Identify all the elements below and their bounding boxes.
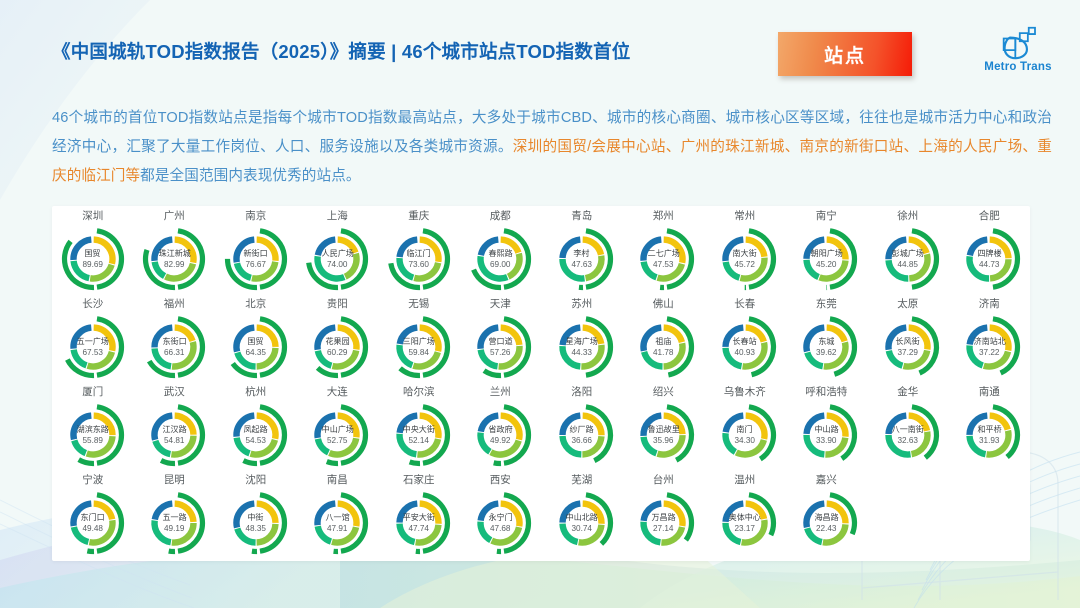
donut-segment xyxy=(501,416,520,440)
donut-segment xyxy=(807,504,825,528)
donut-rings xyxy=(793,402,859,468)
page-title: 《中国城轨TOD指数报告（2025）》摘要 | 46个城市站点TOD指数首位 xyxy=(52,38,630,64)
donut-segment xyxy=(582,436,601,454)
donut-segment xyxy=(318,328,336,350)
city-label: 昆明 xyxy=(164,474,185,488)
donut-chart: 纱厂路36.66 xyxy=(549,402,615,468)
intro-text-part3: 都是全国范围内表现优秀的站点。 xyxy=(140,168,360,184)
donut-segment xyxy=(491,441,519,455)
city-label: 呼和浩特 xyxy=(805,386,847,400)
inner-segment-ring xyxy=(155,416,194,455)
donut-segment xyxy=(582,328,601,344)
donut-segment xyxy=(581,345,601,367)
inner-segment-ring xyxy=(155,504,194,543)
donut-segment xyxy=(156,441,171,454)
donut-segment xyxy=(419,240,438,262)
station-donut-cell[interactable]: 佛山祖庙41.78 xyxy=(623,294,705,382)
donut-segment xyxy=(888,435,910,454)
tod-index-chart-panel: 深圳国贸89.69广州珠江新城82.99南京新街口76.67上海人民广场74.0… xyxy=(52,206,1030,561)
donut-segment xyxy=(888,328,906,350)
donut-segment xyxy=(338,328,357,350)
station-donut-cell[interactable]: 南通和平桥31.93 xyxy=(949,382,1031,470)
donut-chart: 祖庙41.78 xyxy=(630,314,696,380)
city-label: 温州 xyxy=(734,474,755,488)
donut-rings xyxy=(467,490,533,556)
donut-segment xyxy=(333,350,357,366)
donut-segment xyxy=(399,345,412,365)
station-donut-cell[interactable]: 嘉兴海昌路22.43 xyxy=(786,470,868,558)
donut-segment xyxy=(889,351,903,366)
donut-chart: 凤起路54.53 xyxy=(223,402,289,468)
page-header: 《中国城轨TOD指数报告（2025）》摘要 | 46个城市站点TOD指数首位 站… xyxy=(0,0,1080,92)
donut-rings xyxy=(793,226,859,292)
inner-segment-ring xyxy=(562,416,601,455)
inner-segment-ring xyxy=(399,504,438,543)
city-label: 嘉兴 xyxy=(816,474,837,488)
city-label: 佛山 xyxy=(653,298,674,312)
station-donut-cell[interactable]: 东莞东城39.62 xyxy=(786,294,868,382)
donut-rings xyxy=(223,402,289,468)
donut-chart: 春熙路69.00 xyxy=(467,226,533,292)
donut-segment xyxy=(175,328,193,341)
donut-segment xyxy=(501,240,519,253)
station-donut-cell[interactable]: 长春长春站40.93 xyxy=(704,294,786,382)
inner-segment-ring xyxy=(725,240,764,279)
city-label: 郑州 xyxy=(653,210,674,224)
donut-rings xyxy=(467,226,533,292)
donut-rings xyxy=(223,314,289,380)
donut-segment xyxy=(808,353,824,367)
donut-segment xyxy=(807,416,825,434)
donut-segment xyxy=(87,436,113,454)
donut-segment xyxy=(419,416,438,438)
donut-segment xyxy=(888,260,908,278)
donut-segment xyxy=(338,240,356,253)
inner-segment-ring xyxy=(318,328,357,367)
donut-rings xyxy=(549,226,615,292)
donut-segment xyxy=(664,343,683,366)
donut-segment xyxy=(903,350,927,366)
station-donut-cell[interactable]: 济南济南站北37.22 xyxy=(949,294,1031,382)
donut-segment xyxy=(399,504,417,523)
city-label: 兰州 xyxy=(490,386,511,400)
donut-segment xyxy=(419,328,438,352)
city-label: 绍兴 xyxy=(653,386,674,400)
station-donut-cell[interactable]: 芜湖中山北路30.74 xyxy=(541,470,623,558)
donut-segment xyxy=(807,435,825,454)
donut-chart: 万昌路27.14 xyxy=(630,490,696,556)
inner-segment-ring xyxy=(644,504,683,543)
city-label: 洛阳 xyxy=(571,386,592,400)
city-label: 南宁 xyxy=(816,210,837,224)
city-label: 大连 xyxy=(327,386,348,400)
donut-segment xyxy=(345,254,356,277)
donut-rings xyxy=(386,490,452,556)
donut-chart: 南门34.30 xyxy=(712,402,778,468)
inner-segment-ring xyxy=(888,328,927,367)
donut-segment xyxy=(501,328,520,345)
donut-segment xyxy=(911,432,927,454)
inner-segment-ring xyxy=(73,416,112,455)
inner-segment-ring xyxy=(888,416,927,455)
donut-segment xyxy=(256,348,275,367)
donut-segment xyxy=(417,439,438,454)
donut-segment xyxy=(318,256,345,278)
inner-segment-ring xyxy=(399,240,438,279)
station-donut-cell[interactable]: 福州东街口66.31 xyxy=(134,294,216,382)
donut-segment xyxy=(823,524,846,542)
donut-rings xyxy=(223,226,289,292)
city-label: 福州 xyxy=(164,298,185,312)
donut-chart: 济南站北37.22 xyxy=(956,314,1022,380)
inner-segment-ring xyxy=(73,328,112,367)
donut-segment xyxy=(73,328,91,349)
inner-segment-ring xyxy=(481,504,520,543)
donut-segment xyxy=(582,416,601,436)
station-donut-cell[interactable]: 太原长风街37.29 xyxy=(867,294,949,382)
donut-segment xyxy=(399,328,417,344)
donut-segment xyxy=(155,521,171,543)
donut-segment xyxy=(644,522,661,542)
donut-segment xyxy=(155,328,173,348)
donut-rings xyxy=(304,314,370,380)
station-donut-cell[interactable]: 南京新街口76.67 xyxy=(215,206,297,294)
donut-segment xyxy=(578,525,601,543)
station-donut-cell[interactable]: 兰州省政府49.92 xyxy=(460,382,542,470)
donut-segment xyxy=(990,328,1009,351)
donut-chart: 中央大街52.14 xyxy=(386,402,452,468)
city-label: 长春 xyxy=(734,298,755,312)
inner-segment-ring xyxy=(236,416,275,455)
station-donut-cell[interactable]: 乌鲁木齐南门34.30 xyxy=(704,382,786,470)
donut-segment xyxy=(481,504,499,521)
station-donut-cell[interactable]: 大连中山广场52.75 xyxy=(297,382,379,470)
donut-rings xyxy=(875,314,941,380)
donut-segment xyxy=(399,240,417,257)
donut-segment xyxy=(90,265,111,279)
donut-segment xyxy=(562,259,584,278)
donut-chart: 营口道57.26 xyxy=(467,314,533,380)
donut-chart: 奥体中心23.17 xyxy=(712,490,778,556)
donut-segment xyxy=(664,416,683,435)
donut-chart: 和平桥31.93 xyxy=(956,402,1022,468)
city-label: 济南 xyxy=(979,298,1000,312)
inner-segment-ring xyxy=(73,504,112,543)
city-label: 沈阳 xyxy=(245,474,266,488)
donut-segment xyxy=(236,438,249,454)
donut-segment xyxy=(175,416,194,435)
station-donut-cell[interactable]: 哈尔滨中央大街52.14 xyxy=(378,382,460,470)
donut-segment xyxy=(807,528,822,542)
donut-segment xyxy=(820,260,846,278)
donut-rings xyxy=(712,490,778,556)
donut-rings xyxy=(712,226,778,292)
inner-segment-ring xyxy=(236,328,275,367)
donut-rings xyxy=(956,314,1022,380)
donut-segment xyxy=(172,342,193,367)
city-label: 厦门 xyxy=(82,386,103,400)
inner-segment-ring xyxy=(888,240,927,279)
station-donut-cell[interactable]: 上海人民广场74.00 xyxy=(297,206,379,294)
chart-row: 厦门湖滨东路55.89武汉江汉路54.81杭州凤起路54.53大连中山广场52.… xyxy=(52,382,1030,470)
city-label: 武汉 xyxy=(164,386,185,400)
donut-rings xyxy=(875,226,941,292)
donut-segment xyxy=(827,240,846,260)
city-label: 东莞 xyxy=(816,298,837,312)
station-donut-cell[interactable]: 青岛李村47.63 xyxy=(541,206,623,294)
donut-rings xyxy=(386,402,452,468)
donut-segment xyxy=(562,346,580,366)
donut-chart: 长风街37.29 xyxy=(875,314,941,380)
station-donut-cell[interactable]: 合肥四牌楼44.73 xyxy=(949,206,1031,294)
donut-segment xyxy=(318,504,336,526)
donut-segment xyxy=(662,527,683,542)
intro-paragraph: 46个城市的首位TOD指数站点是指每个城市TOD指数最高站点，大多处于城市CBD… xyxy=(52,104,1052,191)
city-label: 南通 xyxy=(979,386,1000,400)
donut-segment xyxy=(664,240,683,263)
donut-rings xyxy=(60,490,126,556)
station-donut-cell[interactable]: 洛阳纱厂路36.66 xyxy=(541,382,623,470)
donut-segment xyxy=(745,240,764,257)
donut-segment xyxy=(155,262,165,276)
donut-rings xyxy=(304,226,370,292)
city-label: 合肥 xyxy=(979,210,1000,224)
donut-segment xyxy=(644,437,657,454)
donut-segment xyxy=(984,351,1008,366)
donut-segment xyxy=(413,352,438,366)
station-donut-cell[interactable]: 武汉江汉路54.81 xyxy=(134,382,216,470)
city-label: 宁波 xyxy=(82,474,103,488)
donut-segment xyxy=(664,504,683,526)
donut-segment xyxy=(175,504,194,522)
donut-segment xyxy=(741,520,764,543)
station-donut-cell[interactable]: 重庆临江门73.60 xyxy=(378,206,460,294)
donut-segment xyxy=(414,263,438,279)
station-donut-cell[interactable]: 常州南大街45.72 xyxy=(704,206,786,294)
station-donut-cell[interactable]: 昆明五一路49.19 xyxy=(134,470,216,558)
donut-segment xyxy=(236,504,254,528)
brand-logo-text: Metro Trans xyxy=(984,61,1051,73)
donut-segment xyxy=(562,328,580,346)
donut-chart: 江汉路54.81 xyxy=(141,402,207,468)
donut-chart: 湖滨东路55.89 xyxy=(60,402,126,468)
station-donut-cell[interactable]: 金华八一南街32.63 xyxy=(867,382,949,470)
donut-rings xyxy=(549,490,615,556)
donut-segment xyxy=(644,352,662,367)
donut-chart: 南大街45.72 xyxy=(712,226,778,292)
donut-rings xyxy=(60,402,126,468)
city-label: 石家庄 xyxy=(403,474,435,488)
donut-segment xyxy=(644,240,662,261)
inner-segment-ring xyxy=(807,416,846,455)
donut-segment xyxy=(562,416,580,435)
station-donut-cell[interactable]: 长沙五一广场67.53 xyxy=(52,294,134,382)
inner-segment-ring xyxy=(970,328,1009,367)
station-donut-cell[interactable]: 苏州星海广场44.33 xyxy=(541,294,623,382)
station-donut-cell[interactable]: 厦门湖滨东路55.89 xyxy=(52,382,134,470)
station-donut-cell[interactable]: 宁波东门口49.48 xyxy=(52,470,134,558)
donut-segment xyxy=(252,262,275,279)
donut-segment xyxy=(172,523,194,543)
donut-segment xyxy=(745,328,763,342)
donut-segment xyxy=(658,435,683,454)
donut-chart: 永宁门47.68 xyxy=(467,490,533,556)
inner-segment-ring xyxy=(807,328,846,367)
donut-segment xyxy=(908,416,926,431)
chart-row: 深圳国贸89.69广州珠江新城82.99南京新街口76.67上海人民广场74.0… xyxy=(52,206,1030,294)
chart-cell-empty xyxy=(867,470,949,558)
inner-segment-ring xyxy=(481,328,520,367)
station-donut-cell[interactable]: 无锡三阳广场59.84 xyxy=(378,294,460,382)
inner-segment-ring xyxy=(481,416,520,455)
station-donut-cell[interactable]: 深圳国贸89.69 xyxy=(52,206,134,294)
donut-segment xyxy=(73,261,89,278)
donut-segment xyxy=(415,525,438,543)
donut-chart: 中山北路30.74 xyxy=(549,490,615,556)
donut-chart: 平安大街47.74 xyxy=(386,490,452,556)
city-label: 重庆 xyxy=(408,210,429,224)
station-donut-cell[interactable]: 沈阳中街48.35 xyxy=(215,470,297,558)
donut-segment xyxy=(73,504,91,526)
donut-segment xyxy=(888,240,906,260)
donut-segment xyxy=(175,240,194,263)
donut-segment xyxy=(93,504,111,520)
station-donut-cell[interactable]: 南昌八一馆47.91 xyxy=(297,470,379,558)
donut-segment xyxy=(644,504,662,521)
donut-segment xyxy=(481,416,499,432)
donut-rings xyxy=(712,314,778,380)
station-donut-cell[interactable]: 贵阳花果园60.29 xyxy=(297,294,379,382)
inner-segment-ring xyxy=(236,504,275,543)
city-label: 无锡 xyxy=(408,298,429,312)
donut-segment xyxy=(736,440,764,455)
station-donut-cell[interactable]: 广州珠江新城82.99 xyxy=(134,206,216,294)
donut-rings xyxy=(630,226,696,292)
donut-segment xyxy=(987,431,1009,455)
donut-chart: 省政府49.92 xyxy=(467,402,533,468)
city-label: 西安 xyxy=(490,474,511,488)
donut-segment xyxy=(237,529,255,543)
donut-segment xyxy=(332,527,356,542)
donut-segment xyxy=(888,416,906,434)
donut-rings xyxy=(549,314,615,380)
donut-rings xyxy=(467,314,533,380)
donut-rings xyxy=(630,314,696,380)
donut-segment xyxy=(481,433,490,452)
donut-segment xyxy=(501,504,520,527)
donut-segment xyxy=(492,527,519,542)
donut-chart: 彭城广场44.85 xyxy=(875,226,941,292)
donut-segment xyxy=(499,346,520,367)
city-label: 台州 xyxy=(653,474,674,488)
donut-segment xyxy=(419,504,438,524)
donut-segment xyxy=(236,240,254,263)
station-donut-cell[interactable]: 杭州凤起路54.53 xyxy=(215,382,297,470)
donut-segment xyxy=(827,504,846,524)
donut-segment xyxy=(725,262,739,278)
station-donut-cell[interactable]: 呼和浩特中山路33.90 xyxy=(786,382,868,470)
donut-rings xyxy=(386,226,452,292)
inner-segment-ring xyxy=(807,240,846,279)
donut-segment xyxy=(725,328,743,347)
donut-segment xyxy=(93,328,112,351)
donut-segment xyxy=(87,352,111,367)
donut-chart: 国贸64.35 xyxy=(223,314,289,380)
station-donut-cell[interactable]: 北京国贸64.35 xyxy=(215,294,297,382)
donut-chart: 海昌路22.43 xyxy=(793,490,859,556)
station-donut-cell[interactable]: 台州万昌路27.14 xyxy=(623,470,705,558)
donut-segment xyxy=(256,524,275,543)
city-label: 长沙 xyxy=(82,298,103,312)
city-label: 北京 xyxy=(245,298,266,312)
donut-segment xyxy=(807,328,825,352)
donut-chart: 八一南街32.63 xyxy=(875,402,941,468)
donut-chart: 五一广场67.53 xyxy=(60,314,126,380)
station-donut-cell[interactable]: 郑州二七广场47.53 xyxy=(623,206,705,294)
donut-segment xyxy=(970,328,988,345)
donut-chart: 中山广场52.75 xyxy=(304,402,370,468)
donut-rings xyxy=(630,490,696,556)
station-donut-cell[interactable]: 绍兴鲁迅故里35.96 xyxy=(623,382,705,470)
inner-segment-ring xyxy=(481,240,520,279)
station-donut-cell[interactable]: 徐州彭城广场44.85 xyxy=(867,206,949,294)
city-label: 成都 xyxy=(490,210,511,224)
donut-chart: 东城39.62 xyxy=(793,314,859,380)
city-label: 深圳 xyxy=(82,210,103,224)
donut-segment xyxy=(562,240,580,258)
inner-segment-ring xyxy=(73,240,112,279)
donut-chart: 鲁迅故里35.96 xyxy=(630,402,696,468)
inner-segment-ring xyxy=(399,328,438,367)
donut-segment xyxy=(256,504,275,523)
station-donut-cell[interactable]: 成都春熙路69.00 xyxy=(460,206,542,294)
inner-segment-ring xyxy=(644,416,683,455)
inner-segment-ring xyxy=(807,504,846,543)
donut-segment xyxy=(740,258,764,279)
donut-segment xyxy=(824,342,846,366)
station-donut-cell[interactable]: 石家庄平安大街47.74 xyxy=(378,470,460,558)
donut-chart: 临江门73.60 xyxy=(386,226,452,292)
station-donut-cell[interactable]: 南宁朝阳广场45.20 xyxy=(786,206,868,294)
donut-segment xyxy=(166,264,193,279)
donut-rings xyxy=(956,226,1022,292)
donut-chart: 长春站40.93 xyxy=(712,314,778,380)
inner-segment-ring xyxy=(970,416,1009,455)
donut-chart: 李村47.63 xyxy=(549,226,615,292)
station-donut-cell[interactable]: 天津营口道57.26 xyxy=(460,294,542,382)
donut-segment xyxy=(725,416,743,433)
donut-rings xyxy=(304,402,370,468)
donut-segment xyxy=(93,240,112,264)
donut-chart: 国贸89.69 xyxy=(60,226,126,292)
donut-segment xyxy=(725,504,743,522)
donut-rings xyxy=(141,490,207,556)
brand-logo: Metro Trans xyxy=(972,26,1064,78)
city-label: 金华 xyxy=(897,386,918,400)
station-donut-cell[interactable]: 西安永宁门47.68 xyxy=(460,470,542,558)
donut-chart: 珠江新城82.99 xyxy=(141,226,207,292)
inner-segment-ring xyxy=(725,416,764,455)
donut-segment xyxy=(970,436,986,454)
inner-segment-ring xyxy=(318,416,357,455)
donut-segment xyxy=(399,524,414,542)
chart-row: 长沙五一广场67.53福州东街口66.31北京国贸64.35贵阳花果园60.29… xyxy=(52,294,1030,382)
station-donut-cell[interactable]: 温州奥体中心23.17 xyxy=(704,470,786,558)
donut-segment xyxy=(908,240,926,254)
donut-chart: 八一馆47.91 xyxy=(304,490,370,556)
donut-rings xyxy=(60,314,126,380)
donut-segment xyxy=(644,328,662,351)
